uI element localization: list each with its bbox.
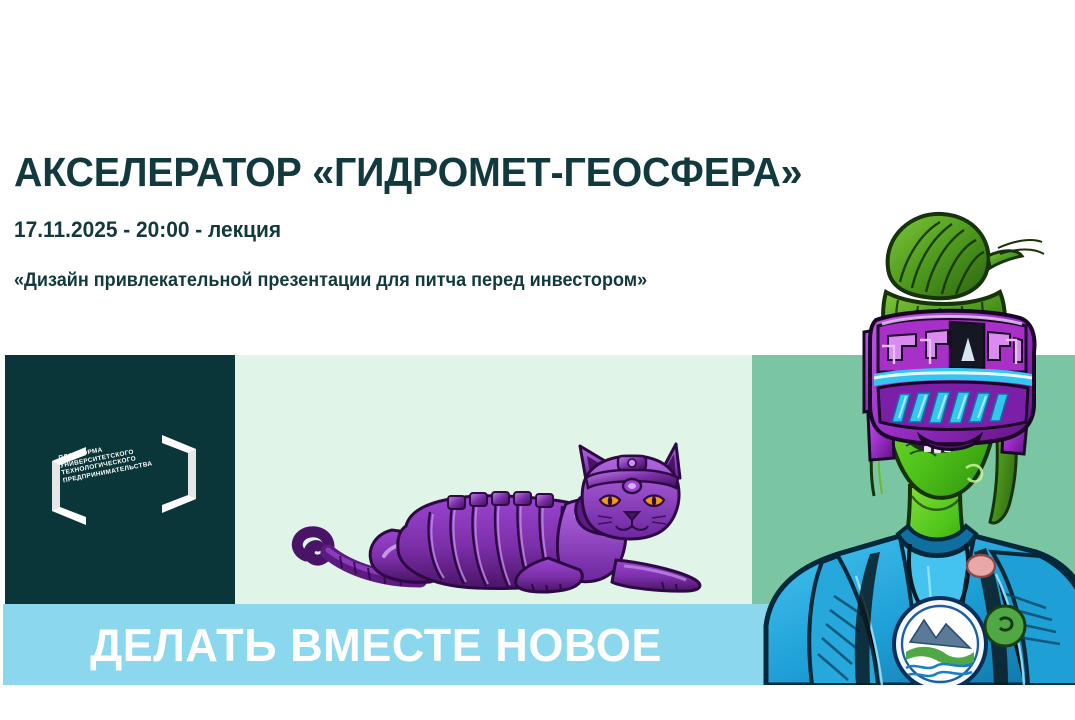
poster-canvas: ПЛАТФОРМА УНИВЕРСИТЕТСКОГО ТЕХНОЛОГИЧЕСК…: [0, 0, 1075, 720]
armored-cat-illustration: [280, 438, 720, 610]
bottom-white-margin: [0, 685, 1075, 720]
platform-logo: ПЛАТФОРМА УНИВЕРСИТЕТСКОГО ТЕХНОЛОГИЧЕСК…: [44, 425, 204, 535]
hydromet-university-emblem-icon: [894, 598, 986, 685]
heading-block: АКСЕЛЕРАТОР «ГИДРОМЕТ-ГЕОСФЕРА» 17.11.20…: [14, 148, 974, 293]
lecture-topic: «Дизайн привлекательной презентации для …: [14, 243, 926, 293]
event-datetime: 17.11.2025 - 20:00 - лекция: [14, 196, 926, 243]
band-slogan: ДЕЛАТЬ ВМЕСТЕ НОВОЕ: [8, 604, 745, 685]
page-title: АКСЕЛЕРАТОР «ГИДРОМЕТ-ГЕОСФЕРА»: [14, 148, 936, 196]
